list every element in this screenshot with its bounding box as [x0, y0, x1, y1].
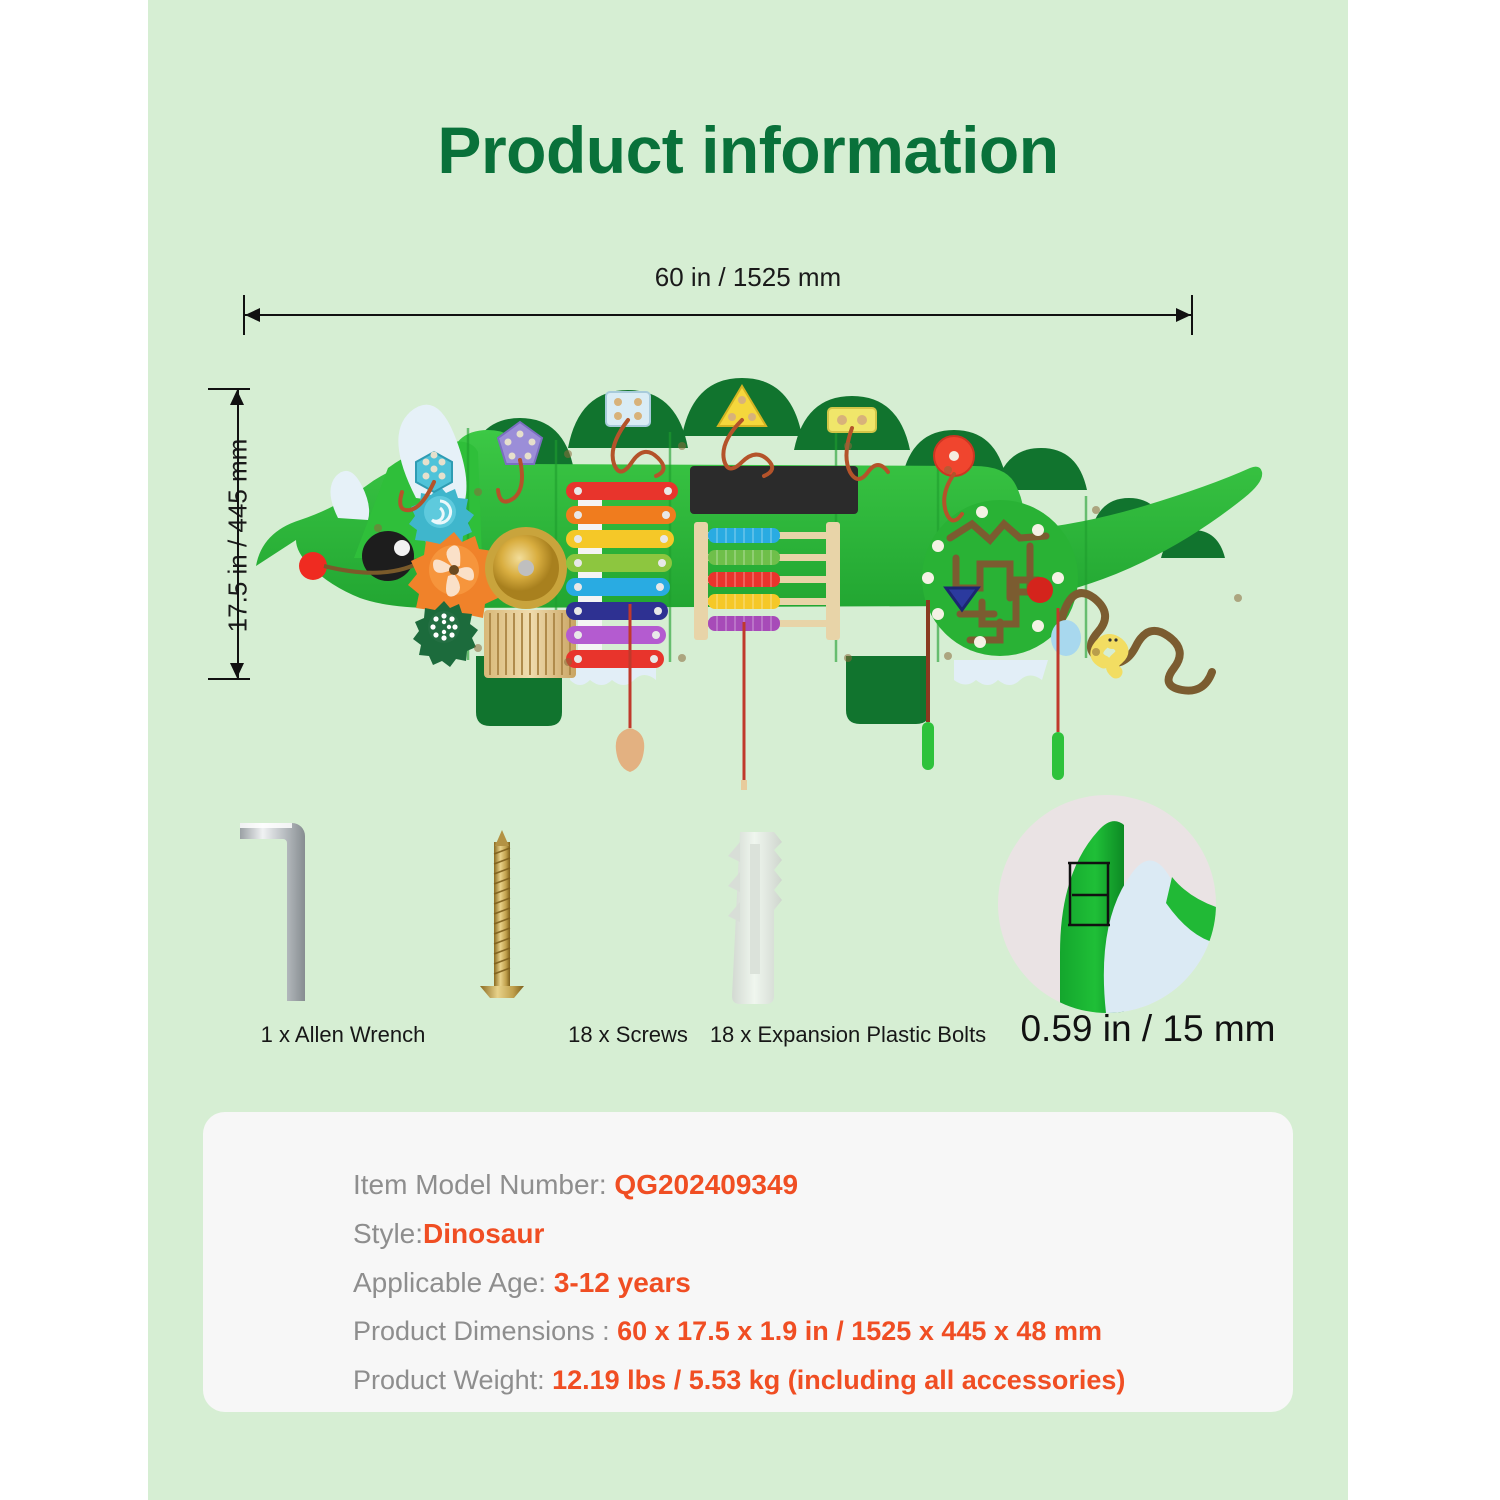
width-dimension-label: 60 in / 1525 mm — [528, 262, 968, 293]
accessory-label-allen-wrench: 1 x Allen Wrench — [178, 1022, 508, 1048]
red-nose-knob — [299, 552, 327, 580]
spec-row-weight: Product Weight: 12.19 lbs / 5.53 kg (inc… — [353, 1356, 1253, 1405]
spec-label-weight: Product Weight: — [353, 1365, 552, 1395]
wooden-washboard — [484, 610, 576, 678]
width-dimension-line — [245, 314, 1191, 316]
spec-row-model-number: Item Model Number: QG202409349 — [353, 1160, 1253, 1209]
wooden-paddle — [616, 728, 644, 772]
spec-row-age: Applicable Age: 3-12 years — [353, 1258, 1253, 1307]
yellow-snake — [1097, 635, 1122, 672]
expansion-plastic-bolt-icon — [728, 832, 782, 1004]
spec-label-age: Applicable Age: — [353, 1267, 554, 1298]
green-peg — [1052, 732, 1064, 780]
content-canvas: Product information 60 in / 1525 mm 17.5… — [148, 0, 1348, 1500]
spec-label-dimensions: Product Dimensions : — [353, 1316, 617, 1346]
width-arrow-right-icon — [1176, 308, 1191, 322]
spec-value-age: 3-12 years — [554, 1267, 691, 1298]
page-title: Product information — [148, 112, 1348, 188]
spec-value-weight: 12.19 lbs / 5.53 kg (including all acces… — [552, 1365, 1125, 1395]
screw-icon — [480, 830, 524, 998]
spec-value-dimensions: 60 x 17.5 x 1.9 in / 1525 x 445 x 48 mm — [617, 1316, 1102, 1346]
thickness-dimension-label: 0.59 in / 15 mm — [938, 1008, 1358, 1050]
spec-value-style: Dinosaur — [423, 1218, 544, 1249]
width-dim-endcap-right — [1191, 295, 1193, 335]
brass-bell — [485, 527, 567, 609]
width-arrow-left-icon — [245, 308, 260, 322]
spec-label-style: Style: — [353, 1218, 423, 1249]
allen-wrench-icon — [240, 823, 305, 1001]
specification-list: Item Model Number: QG202409349 Style:Din… — [353, 1160, 1253, 1405]
spec-value-model-number: QG202409349 — [614, 1169, 798, 1200]
specification-card: Item Model Number: QG202409349 Style:Din… — [203, 1112, 1293, 1412]
spec-row-dimensions: Product Dimensions : 60 x 17.5 x 1.9 in … — [353, 1307, 1253, 1356]
blue-egg — [1051, 620, 1081, 656]
infographic-page: Product information 60 in / 1525 mm 17.5… — [0, 0, 1500, 1500]
green-peg — [922, 722, 934, 770]
snake-wave-track — [1051, 593, 1212, 691]
spec-label-model-number: Item Model Number: — [353, 1169, 614, 1200]
chalkboard — [690, 466, 858, 514]
spec-row-style: Style:Dinosaur — [353, 1209, 1253, 1258]
thickness-zoom-detail — [998, 795, 1216, 1013]
product-illustration — [238, 370, 1268, 790]
